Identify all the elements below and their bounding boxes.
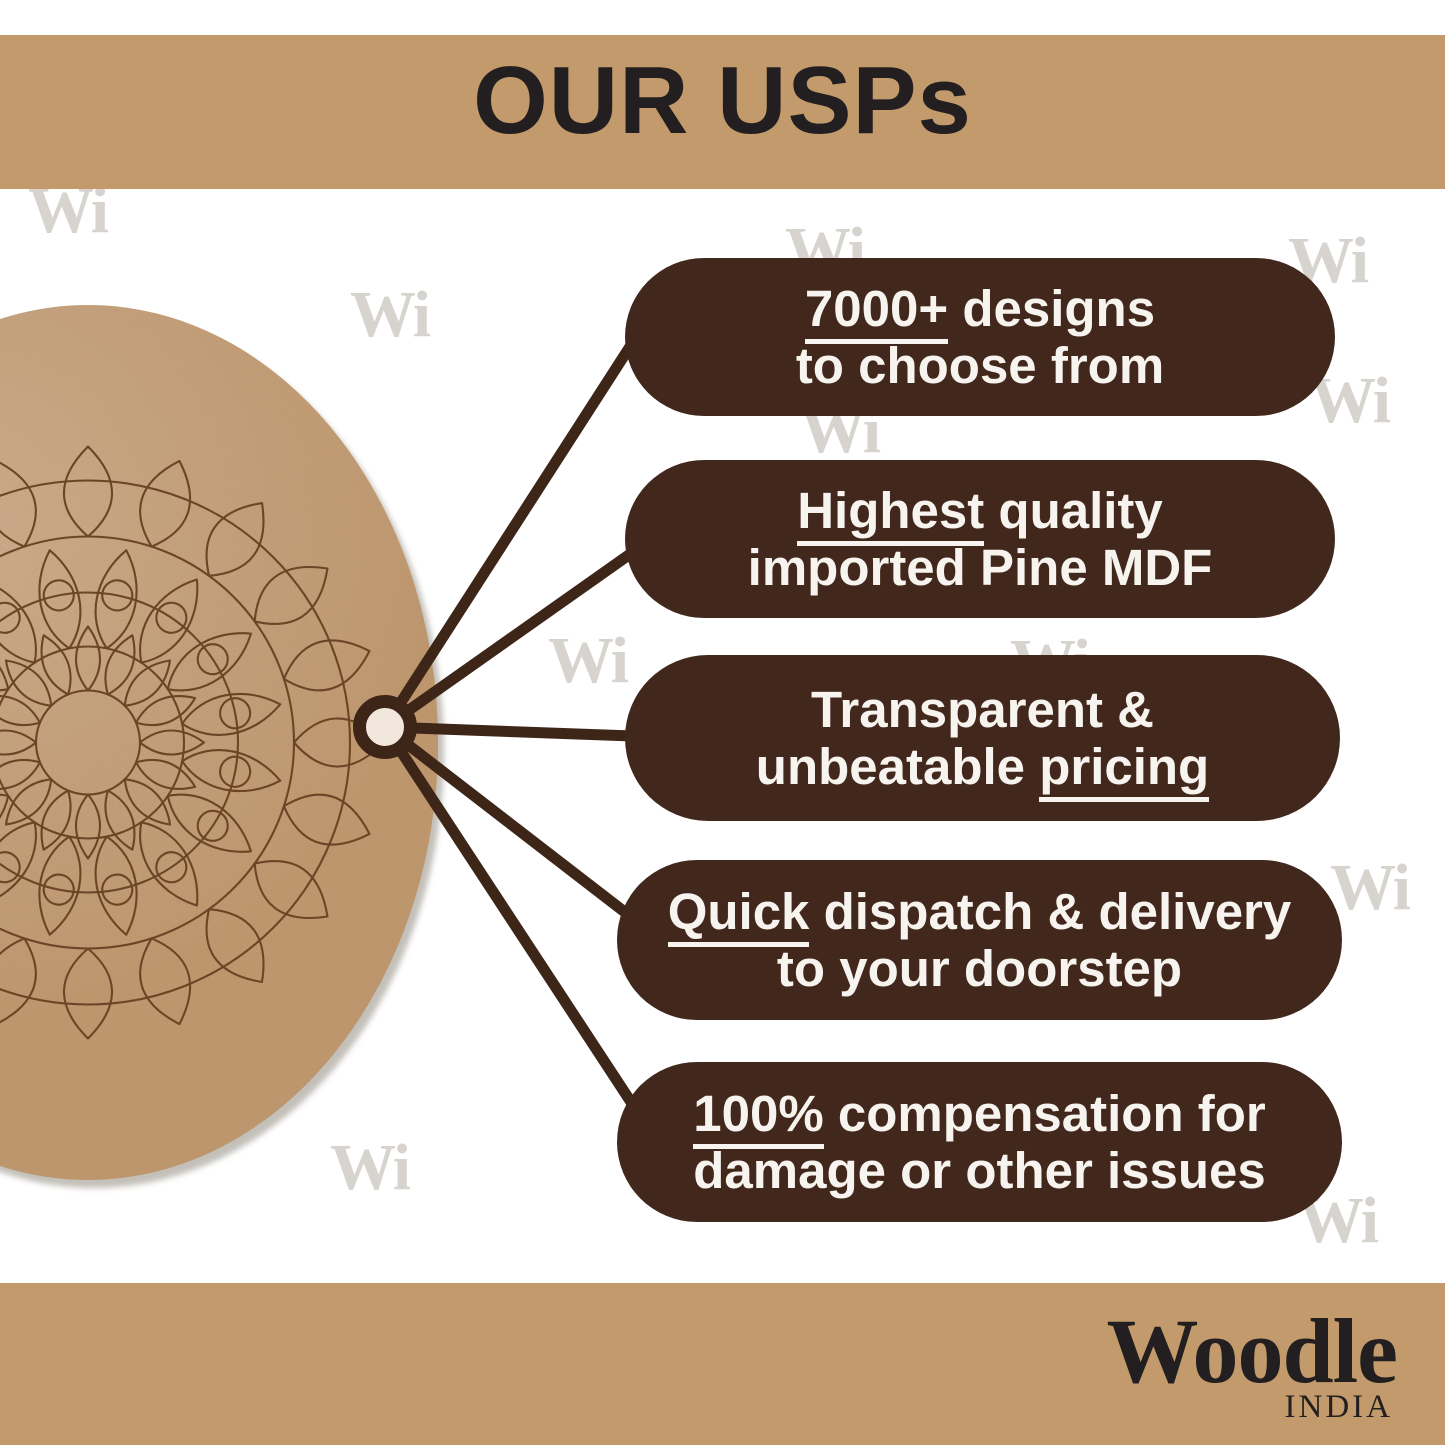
usp-pill-text: Quick dispatch & deliveryto your doorste… — [668, 883, 1292, 997]
usp-run: unbeatable — [756, 738, 1039, 795]
usp-run: Transparent & — [811, 681, 1154, 738]
usp-emphasis: pricing — [1039, 738, 1209, 802]
usp-pill-line: Transparent & — [756, 681, 1209, 738]
usp-pill-line: 100% compensation for — [693, 1085, 1266, 1142]
usp-run: dispatch & delivery — [809, 883, 1291, 940]
page-title: OUR USPs — [0, 46, 1445, 156]
usp-pill-line: unbeatable pricing — [756, 738, 1209, 795]
usp-pill-quality[interactable]: Highest qualityimported Pine MDF — [625, 460, 1335, 618]
usp-run: compensation for — [824, 1085, 1266, 1142]
central-hub-node — [353, 695, 417, 759]
usp-run: to choose from — [796, 337, 1164, 394]
usp-pill-text: 100% compensation fordamage or other iss… — [693, 1085, 1266, 1199]
usp-pill-line: imported Pine MDF — [748, 539, 1213, 596]
usp-pill-text: Highest qualityimported Pine MDF — [748, 482, 1213, 596]
usp-run: to your doorstep — [777, 940, 1182, 997]
usp-run: designs — [948, 280, 1155, 337]
usp-pill-line: Quick dispatch & delivery — [668, 883, 1292, 940]
watermark-wi: Wi — [548, 628, 627, 694]
usp-pill-line: 7000+ designs — [796, 280, 1164, 337]
usp-run: quality — [984, 482, 1163, 539]
usp-pill-text: 7000+ designsto choose from — [796, 280, 1164, 394]
usp-pill-pricing[interactable]: Transparent &unbeatable pricing — [625, 655, 1340, 821]
usp-run: damage or other issues — [693, 1142, 1266, 1199]
watermark-wi: Wi — [1330, 855, 1409, 921]
usp-pill-line: to your doorstep — [668, 940, 1292, 997]
usp-pill-line: Highest quality — [748, 482, 1213, 539]
usp-pill-line: damage or other issues — [693, 1142, 1266, 1199]
usp-pill-text: Transparent &unbeatable pricing — [756, 681, 1209, 795]
usp-pill-dispatch[interactable]: Quick dispatch & deliveryto your doorste… — [617, 860, 1342, 1020]
brand-logo: Woodle INDIA — [1107, 1305, 1397, 1424]
usp-emphasis: Highest — [797, 482, 984, 546]
usp-pill-line: to choose from — [796, 337, 1164, 394]
usp-pill-compensation[interactable]: 100% compensation fordamage or other iss… — [617, 1062, 1342, 1222]
usp-run: imported Pine MDF — [748, 539, 1213, 596]
brand-logo-word: Woodle — [1107, 1305, 1397, 1397]
usp-emphasis: 7000+ — [805, 280, 948, 344]
infographic-canvas: WiWiWiWiWiWiWiWiWiWiWiWiWiWi — [0, 0, 1445, 1445]
usp-emphasis: 100% — [693, 1085, 823, 1149]
usp-pill-designs[interactable]: 7000+ designsto choose from — [625, 258, 1335, 416]
usp-emphasis: Quick — [668, 883, 810, 947]
